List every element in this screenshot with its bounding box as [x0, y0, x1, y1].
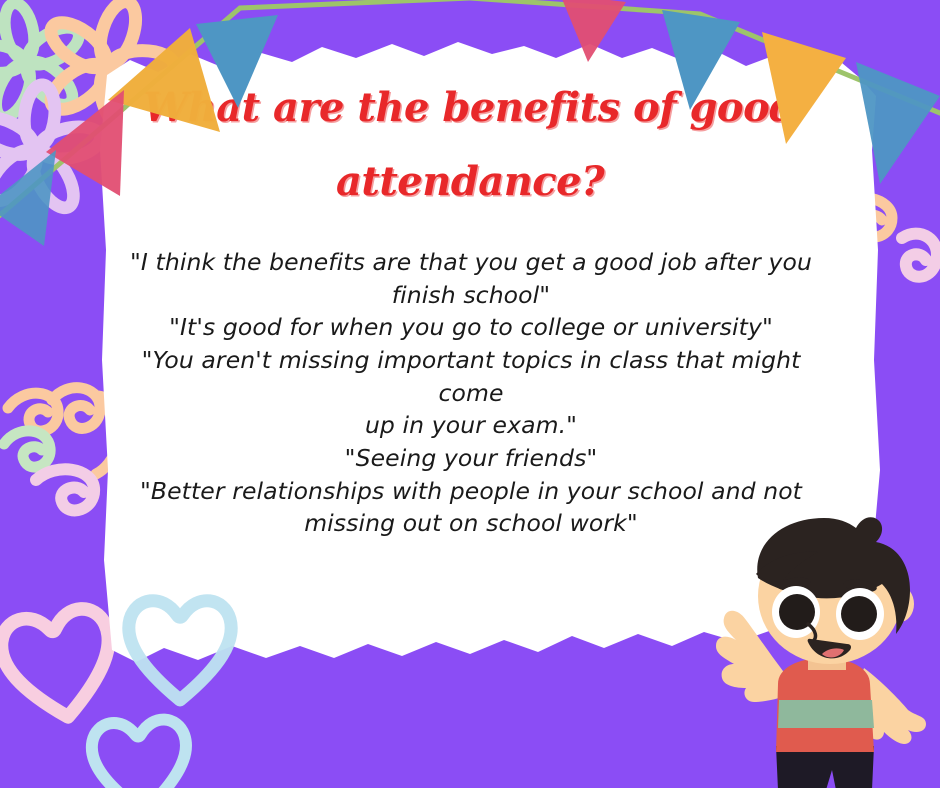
waving-boy-illustration — [0, 0, 940, 788]
attendance-poster: What are the benefits of good attendance… — [0, 0, 940, 788]
boy-shirt — [776, 658, 874, 752]
boy-pants — [776, 746, 874, 788]
